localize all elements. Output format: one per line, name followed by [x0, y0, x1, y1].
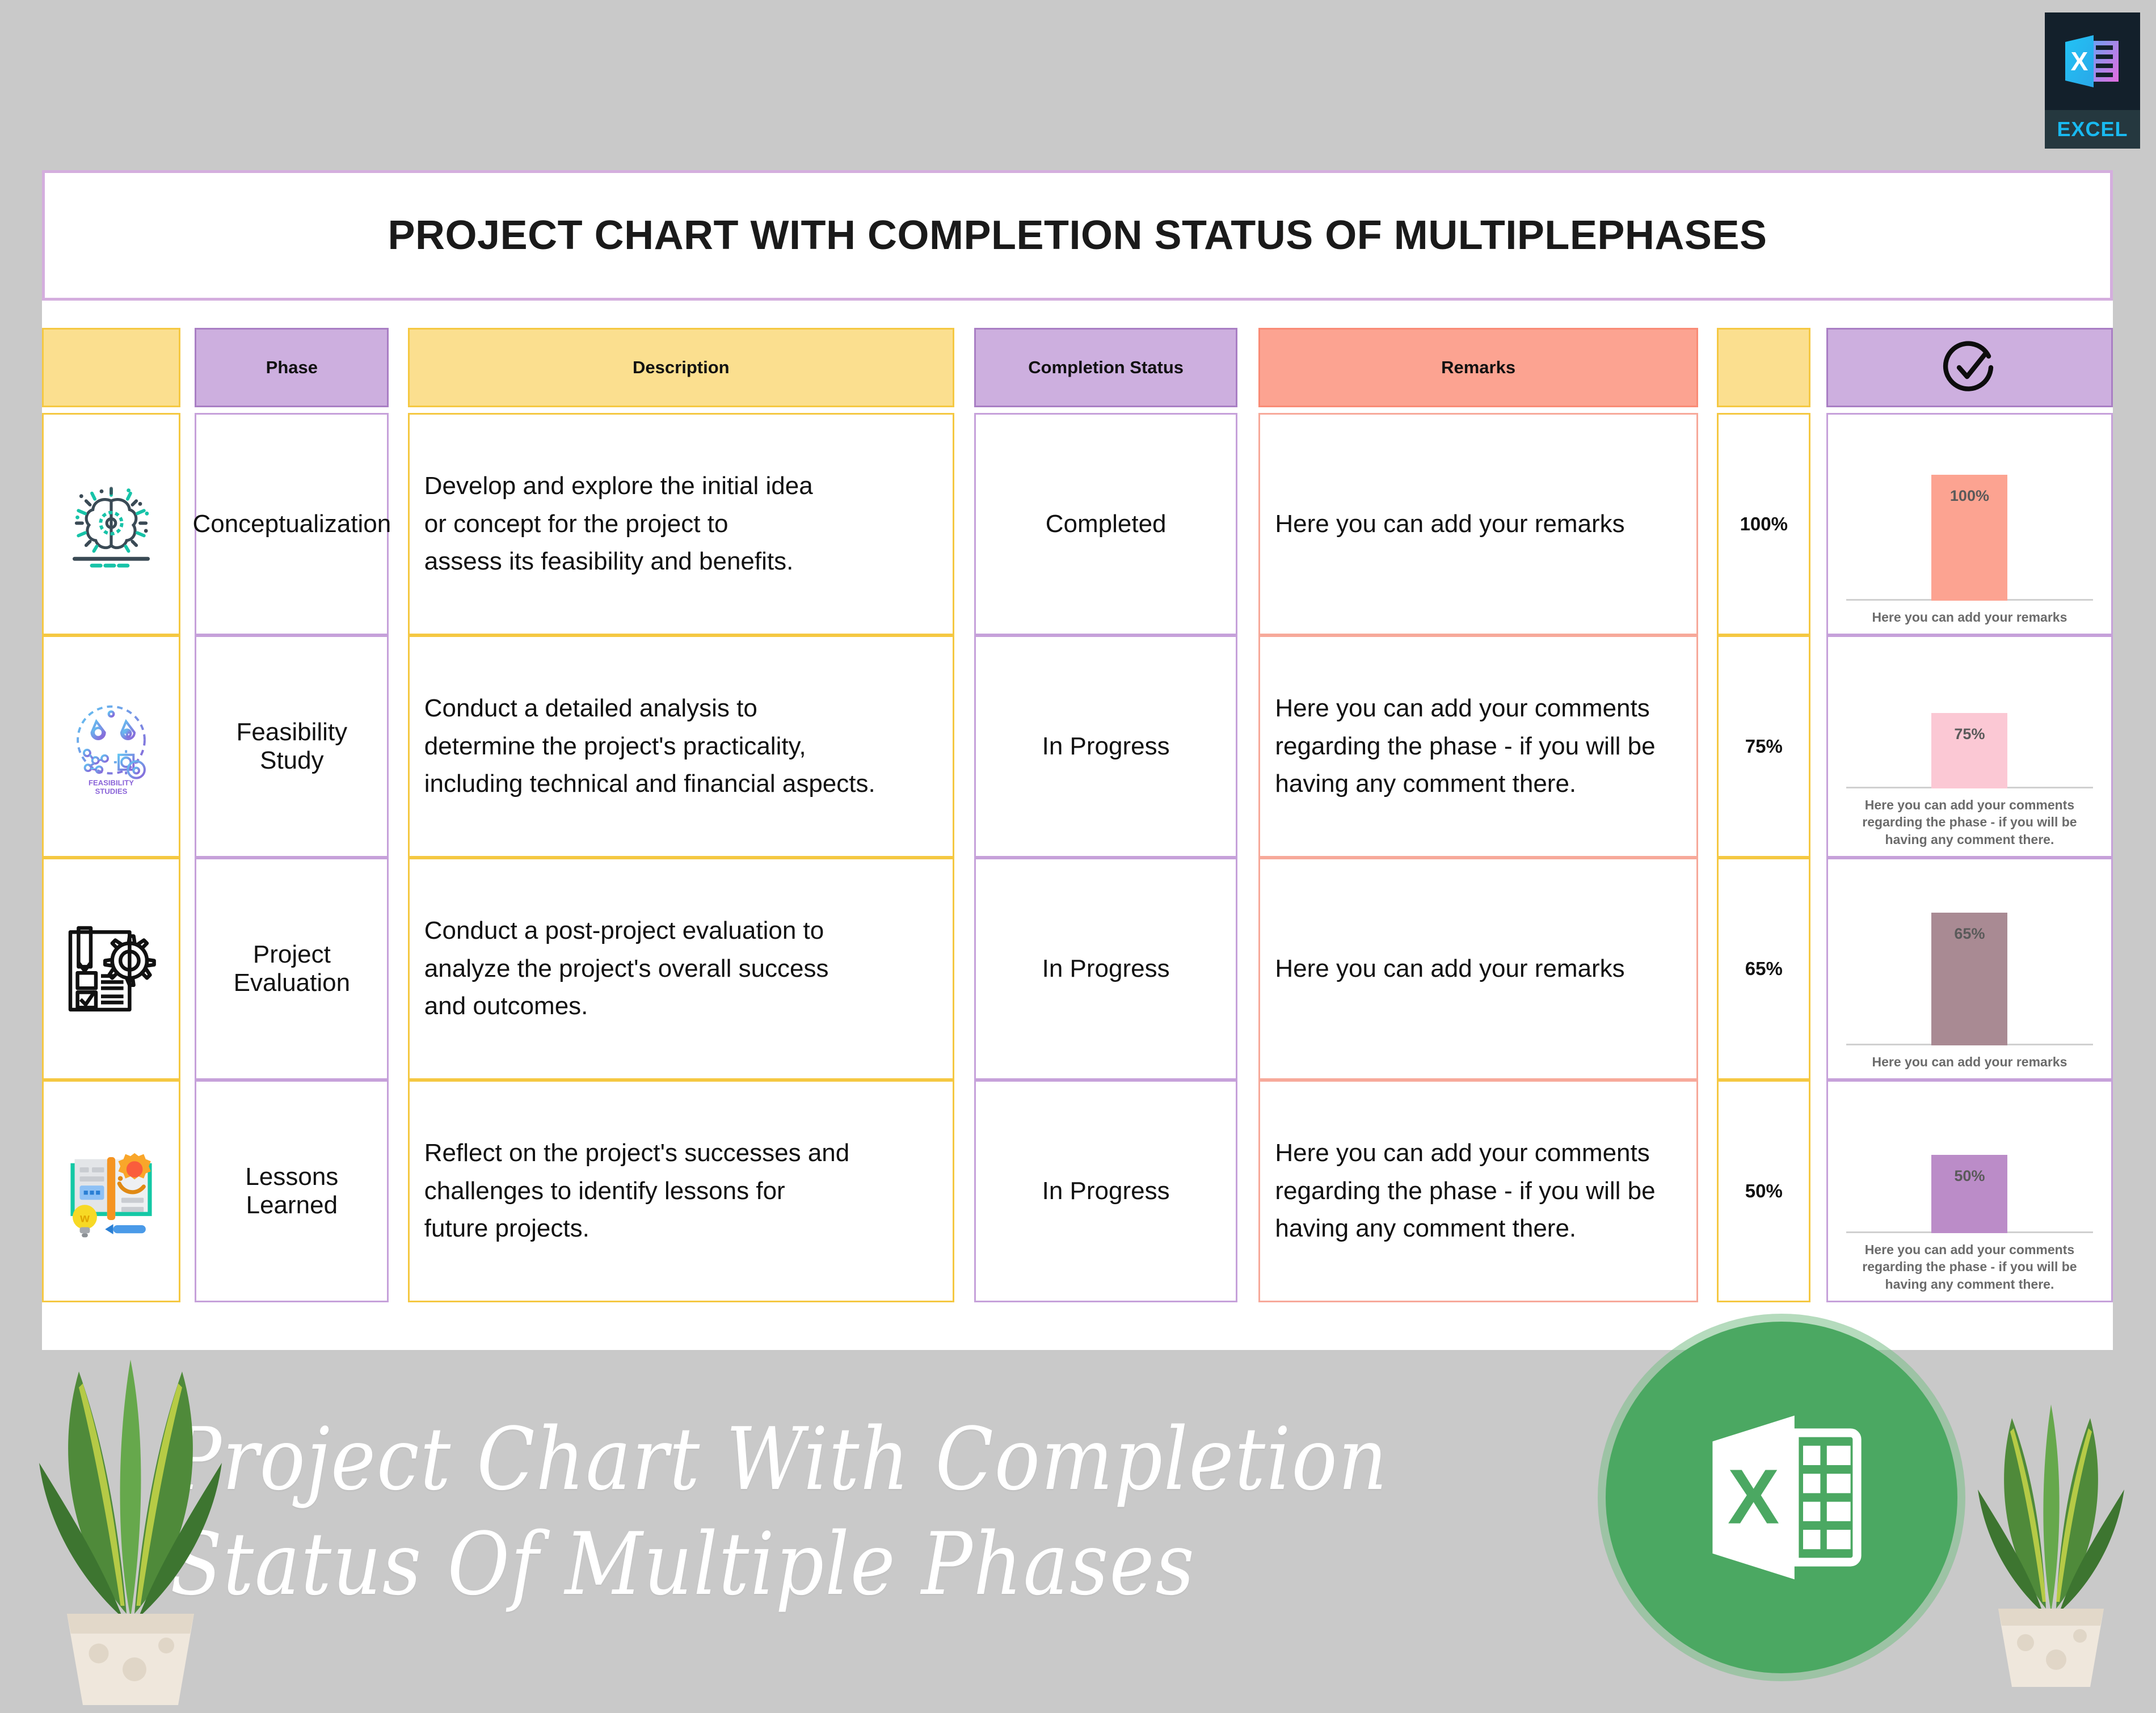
- chart-caption: Here you can add your comments regarding…: [1842, 1241, 2098, 1293]
- table-row[interactable]: Conceptualization Develop and explore th…: [42, 413, 2113, 635]
- column-gap: [1810, 328, 1826, 407]
- svg-text:X: X: [2071, 47, 2088, 76]
- feasibility-studies-scale-icon: FEASIBILITY STUDIES: [44, 637, 179, 856]
- status-badge: In Progress: [1042, 1177, 1170, 1205]
- description-cell: Conduct a post-project evaluation to ana…: [408, 858, 954, 1080]
- column-gap: [954, 1080, 974, 1302]
- column-gap: [1698, 858, 1717, 1080]
- percent-value: 65%: [1745, 958, 1783, 980]
- table-row[interactable]: w Lessons Learned Reflect on the project…: [42, 1080, 2113, 1302]
- phase-label: Feasibility Study: [204, 718, 379, 775]
- phase-table: Phase Description Completion Status Rema…: [42, 328, 2113, 1302]
- chart-bar-label: 50%: [1954, 1167, 1985, 1185]
- percent-value: 100%: [1740, 513, 1788, 535]
- header-cell-percent: [1717, 328, 1810, 407]
- table-row[interactable]: FEASIBILITY STUDIES Feasibility Study Co…: [42, 635, 2113, 858]
- status-cell: In Progress: [974, 858, 1237, 1080]
- percent-cell: 65%: [1717, 858, 1810, 1080]
- column-gap: [389, 328, 407, 407]
- phase-label: Project Evaluation: [204, 940, 379, 997]
- status-badge: In Progress: [1042, 732, 1170, 761]
- open-book-lightbulb-icon: w: [44, 1082, 179, 1301]
- worksheet-sheet: PROJECT CHART WITH COMPLETION STATUS OF …: [42, 170, 2113, 1350]
- poster-canvas: X EXCEL PROJECT CHART WITH COMPLETION ST…: [0, 0, 2156, 1713]
- phase-cell: Conceptualization: [195, 413, 389, 635]
- column-gap: [954, 858, 974, 1080]
- column-gap: [1237, 1080, 1258, 1302]
- page-title: PROJECT CHART WITH COMPLETION STATUS OF …: [388, 212, 1767, 259]
- chart-bar: 50%: [1931, 1155, 2007, 1233]
- row-icon-cell: [42, 413, 180, 635]
- status-badge: In Progress: [1042, 955, 1170, 983]
- chart-bar: 100%: [1931, 475, 2007, 601]
- header-cell-description: Description: [408, 328, 954, 407]
- chart-caption: Here you can add your remarks: [1872, 609, 2067, 626]
- chart-bar-label: 65%: [1954, 925, 1985, 943]
- description-cell: Reflect on the project's successes and c…: [408, 1080, 954, 1302]
- status-badge: Completed: [1046, 510, 1167, 538]
- mini-chart-cell: 75% Here you can add your comments regar…: [1826, 635, 2113, 858]
- mini-chart-cell: 65% Here you can add your remarks: [1826, 858, 2113, 1080]
- header-label-description: Description: [410, 330, 953, 406]
- header-label-remarks: Remarks: [1260, 330, 1696, 406]
- phase-cell: Project Evaluation: [195, 858, 389, 1080]
- column-gap: [180, 635, 195, 858]
- percent-cell: 75%: [1717, 635, 1810, 858]
- chart-caption: Here you can add your remarks: [1872, 1053, 2067, 1070]
- chart-bar-label: 100%: [1950, 487, 1989, 505]
- column-gap: [1810, 413, 1826, 635]
- column-gap: [180, 328, 195, 407]
- chart-bar: 75%: [1931, 713, 2007, 788]
- excel-circle-logo: X: [1606, 1322, 1957, 1673]
- mini-chart-cell: 50% Here you can add your comments regar…: [1826, 1080, 2113, 1302]
- status-cell: In Progress: [974, 635, 1237, 858]
- chart-bar-label: 75%: [1954, 725, 1985, 743]
- column-gap: [389, 635, 407, 858]
- percent-value: 50%: [1745, 1180, 1783, 1202]
- excel-badge: X EXCEL: [2045, 12, 2140, 149]
- column-gap: [1810, 858, 1826, 1080]
- table-header-row: Phase Description Completion Status Rema…: [42, 328, 2113, 407]
- column-gap: [180, 1080, 195, 1302]
- column-gap: [1237, 328, 1258, 407]
- column-gap: [1237, 635, 1258, 858]
- column-gap: [1810, 635, 1826, 858]
- snake-plant-icon: [1957, 1344, 2145, 1713]
- phase-label: Lessons Learned: [204, 1163, 379, 1220]
- excel-badge-label: EXCEL: [2045, 110, 2140, 149]
- header-cell-chart: [1826, 328, 2113, 407]
- svg-text:w: w: [79, 1212, 90, 1225]
- header-cell-phase: Phase: [195, 328, 389, 407]
- column-gap: [1698, 413, 1717, 635]
- footer-caption-line1: Project Chart With Completion: [170, 1407, 1393, 1512]
- column-gap: [389, 1080, 407, 1302]
- column-gap: [954, 328, 974, 407]
- phase-cell: Feasibility Study: [195, 635, 389, 858]
- footer-caption: Project Chart With Completion Status Of …: [170, 1407, 1393, 1617]
- description-text: Conduct a detailed analysis to determine…: [424, 690, 875, 804]
- footer-caption-line2: Status Of Multiple Phases: [170, 1512, 1393, 1617]
- column-gap: [954, 413, 974, 635]
- svg-text:STUDIES: STUDIES: [95, 787, 128, 795]
- header-label-phase: Phase: [196, 330, 387, 406]
- remarks-cell[interactable]: Here you can add your comments regarding…: [1258, 635, 1698, 858]
- column-gap: [1698, 328, 1717, 407]
- phase-label: Conceptualization: [192, 510, 391, 538]
- description-text: Conduct a post-project evaluation to ana…: [424, 912, 829, 1026]
- svg-text:X: X: [1728, 1453, 1779, 1540]
- column-gap: [1698, 1080, 1717, 1302]
- remarks-text: Here you can add your remarks: [1275, 505, 1624, 543]
- column-gap: [389, 413, 407, 635]
- brain-gear-idea-icon: [44, 415, 179, 634]
- percent-value: 75%: [1745, 736, 1783, 757]
- description-text: Develop and explore the initial idea or …: [424, 467, 813, 581]
- row-icon-cell: FEASIBILITY STUDIES: [42, 635, 180, 858]
- phase-cell: Lessons Learned: [195, 1080, 389, 1302]
- clipboard-gear-evaluation-icon: [44, 859, 179, 1078]
- status-cell: In Progress: [974, 1080, 1237, 1302]
- column-gap: [1237, 858, 1258, 1080]
- column-gap: [180, 858, 195, 1080]
- mini-chart-cell: 100% Here you can add your remarks: [1826, 413, 2113, 635]
- header-cell-status: Completion Status: [974, 328, 1237, 407]
- remarks-cell[interactable]: Here you can add your remarks: [1258, 413, 1698, 635]
- excel-file-icon: X: [2045, 12, 2140, 110]
- table-row[interactable]: Project Evaluation Conduct a post-projec…: [42, 858, 2113, 1080]
- description-cell: Develop and explore the initial idea or …: [408, 413, 954, 635]
- percent-cell: 100%: [1717, 413, 1810, 635]
- chart-bar: 65%: [1931, 913, 2007, 1045]
- remarks-text: Here you can add your comments regarding…: [1275, 1134, 1681, 1248]
- column-gap: [954, 635, 974, 858]
- column-gap: [1237, 413, 1258, 635]
- snake-plant-icon: [11, 1316, 250, 1713]
- remarks-text: Here you can add your remarks: [1275, 950, 1624, 988]
- remarks-text: Here you can add your comments regarding…: [1275, 690, 1681, 804]
- status-cell: Completed: [974, 413, 1237, 635]
- header-cell-icon: [42, 328, 180, 407]
- chart-caption: Here you can add your comments regarding…: [1842, 796, 2098, 848]
- column-gap: [1698, 635, 1717, 858]
- column-gap: [1810, 1080, 1826, 1302]
- check-circle-icon: [1828, 330, 2111, 406]
- remarks-cell[interactable]: Here you can add your comments regarding…: [1258, 1080, 1698, 1302]
- description-cell: Conduct a detailed analysis to determine…: [408, 635, 954, 858]
- title-banner: PROJECT CHART WITH COMPLETION STATUS OF …: [42, 170, 2113, 301]
- svg-text:FEASIBILITY: FEASIBILITY: [89, 779, 134, 787]
- column-gap: [389, 858, 407, 1080]
- header-cell-remarks: Remarks: [1258, 328, 1698, 407]
- description-text: Reflect on the project's successes and c…: [424, 1134, 849, 1248]
- row-icon-cell: [42, 858, 180, 1080]
- header-label-status: Completion Status: [976, 330, 1236, 406]
- remarks-cell[interactable]: Here you can add your remarks: [1258, 858, 1698, 1080]
- percent-cell: 50%: [1717, 1080, 1810, 1302]
- row-icon-cell: w: [42, 1080, 180, 1302]
